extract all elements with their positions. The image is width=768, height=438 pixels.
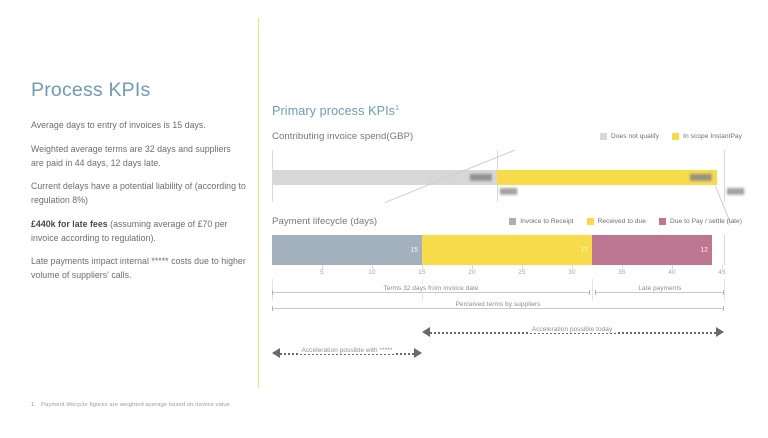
- arrow-head-right-icon: [414, 348, 422, 358]
- legend-item-invoice-to-receipt: Invoice to Receipt: [509, 218, 573, 225]
- spend-chart-title: Contributing invoice spend(GBP): [272, 131, 413, 142]
- axis-tick-label: 40: [668, 269, 675, 276]
- legend-item-due-to-pay-late: Due to Pay / settle (late): [659, 218, 742, 225]
- kpi-paragraph-1: Average days to entry of invoices is 15 …: [31, 118, 246, 132]
- footnote-text: Payment lifecycle figures are weighted a…: [41, 402, 230, 408]
- arrow-head-left-icon: [272, 348, 280, 358]
- lifecycle-stacked-bar: 15 17 12: [272, 235, 712, 265]
- legend-label: Due to Pay / settle (late): [670, 218, 742, 225]
- spend-axis-right: [724, 150, 725, 202]
- footnote: 1.Payment lifecycle figures are weighted…: [31, 402, 230, 408]
- bracket-guide-right: [724, 279, 725, 301]
- legend-label: Received to due: [598, 218, 646, 225]
- spend-segment-value: █████: [690, 175, 712, 181]
- arrow-label: Acceleration possible today: [529, 326, 616, 333]
- spend-chart-legend: Does not qualify In scope InstantPay: [600, 133, 742, 140]
- legend-label: Invoice to Receipt: [520, 218, 573, 225]
- slide: Process KPIs Average days to entry of in…: [0, 0, 768, 438]
- lifecycle-segment-value: 15: [410, 247, 418, 254]
- bracket-guide-32: [592, 279, 593, 301]
- lifecycle-chart-title: Payment lifecycle (days): [272, 216, 377, 227]
- spend-axis-label-right: ████: [727, 189, 744, 195]
- bracket-label: Terms 32 days from invoice date: [378, 285, 483, 292]
- kpi-paragraph-2: Weighted average terms are 32 days and s…: [31, 142, 246, 171]
- arrow-head-right-icon: [716, 327, 724, 337]
- spend-segment-in-scope: █████: [497, 170, 717, 185]
- axis-tick-label: 25: [518, 269, 525, 276]
- axis-tick-label: 5: [320, 269, 324, 276]
- arrow-label: Acceleration possible with *****: [299, 347, 396, 354]
- bracket-row-terms: Terms 32 days from invoice date Late pay…: [272, 285, 742, 301]
- legend-swatch-icon: [672, 133, 679, 140]
- lifecycle-segment-received-to-due: 17: [422, 235, 592, 265]
- axis-tick-label: 15: [418, 269, 425, 276]
- axis-tick-label: 30: [568, 269, 575, 276]
- arrow-row-acceleration-with: Acceleration possible with *****: [272, 344, 742, 364]
- lifecycle-segment-due-to-pay: 12: [592, 235, 712, 265]
- axis-tick-label: 45: [718, 269, 725, 276]
- legend-item-does-not-qualify: Does not qualify: [600, 133, 659, 140]
- kpi-paragraph-5: Late payments impact internal ***** cost…: [31, 254, 246, 283]
- bracket-label: Perceived terms by suppliers: [451, 301, 546, 308]
- legend-label: Does not qualify: [611, 133, 659, 140]
- page-title: Process KPIs: [31, 80, 246, 101]
- spend-segment-value: █████: [470, 175, 492, 181]
- legend-swatch-icon: [600, 133, 607, 140]
- lifecycle-chart-plot: 15 17 12: [272, 235, 742, 265]
- panel-title-text: Primary process KPIs: [272, 104, 395, 118]
- axis-tick-label: 10: [368, 269, 375, 276]
- arrow-row-acceleration-today: Acceleration possible today: [272, 323, 742, 343]
- lifecycle-axis-right: [724, 235, 725, 265]
- spend-chart-header: Contributing invoice spend(GBP) Does not…: [272, 131, 742, 146]
- legend-item-received-to-due: Received to due: [587, 218, 646, 225]
- bracket-row-perceived: Perceived terms by suppliers: [272, 301, 742, 317]
- bracket-perceived-terms: [272, 308, 724, 309]
- panel-title-footnote-marker: 1: [395, 105, 399, 112]
- kpi-paragraph-3: Current delays have a potential liabilit…: [31, 179, 246, 208]
- spend-segment-does-not-qualify: █████: [272, 170, 497, 185]
- spend-chart-plot: █████ █████ ████ ████: [272, 150, 742, 202]
- panel-title: Primary process KPIs1: [272, 104, 742, 118]
- footnote-number: 1.: [31, 402, 36, 408]
- kpi-paragraph-4: £440k for late fees (assuming average of…: [31, 217, 246, 246]
- left-content-column: Process KPIs Average days to entry of in…: [31, 80, 246, 292]
- spend-axis-label-middle: ████: [500, 189, 517, 195]
- arrow-head-left-icon: [422, 327, 430, 337]
- legend-item-in-scope-instantpay: In scope InstantPay: [672, 133, 742, 140]
- vertical-divider: [258, 18, 259, 388]
- legend-swatch-icon: [659, 218, 666, 225]
- lifecycle-segment-invoice-to-receipt: 15: [272, 235, 422, 265]
- lifecycle-segment-value: 12: [700, 247, 708, 254]
- lifecycle-chart-legend: Invoice to Receipt Received to due Due t…: [509, 218, 742, 225]
- late-fees-highlight: £440k for late fees: [31, 219, 108, 229]
- legend-swatch-icon: [587, 218, 594, 225]
- legend-label: In scope InstantPay: [683, 133, 742, 140]
- bracket-late-payments: [595, 292, 724, 293]
- lifecycle-x-axis: 5 10 15 20 25 30 35 40 45: [272, 265, 742, 281]
- lifecycle-segment-value: 17: [580, 247, 588, 254]
- legend-swatch-icon: [509, 218, 516, 225]
- bracket-terms-32-days: [272, 292, 590, 293]
- right-chart-column: Primary process KPIs1 Contributing invoi…: [272, 104, 742, 364]
- axis-tick-label: 20: [468, 269, 475, 276]
- spend-stacked-bar: █████ █████: [272, 170, 717, 185]
- lifecycle-chart-header: Payment lifecycle (days) Invoice to Rece…: [272, 216, 742, 231]
- bracket-label: Late payments: [633, 285, 686, 292]
- axis-tick-label: 35: [618, 269, 625, 276]
